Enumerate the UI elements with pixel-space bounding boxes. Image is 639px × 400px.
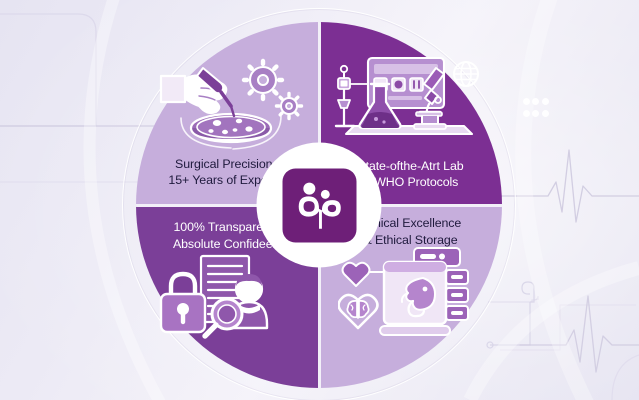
lab-flask-microscope-monitor-globe-icon [334,52,484,144]
dot [532,98,539,105]
dot [542,98,549,105]
dot [523,98,530,105]
value-wheel: Surgical Precision & 15+ Years of Expert… [136,22,502,388]
infographic-canvas: Surgical Precision & 15+ Years of Expert… [0,0,639,400]
center-hub[interactable] [257,143,382,268]
ultrasound-fetus-heart-brain-icon [338,246,488,338]
parent-and-child-sprout-icon [290,176,348,234]
hand-pipette-petri-dish-gears-icon [159,58,309,150]
brand-logo [282,168,356,242]
padlock-document-magnifier-person-icon [157,254,307,346]
dot-grid-decoration [523,98,549,120]
dot [542,110,549,117]
dot [532,110,539,117]
dot [523,110,530,117]
